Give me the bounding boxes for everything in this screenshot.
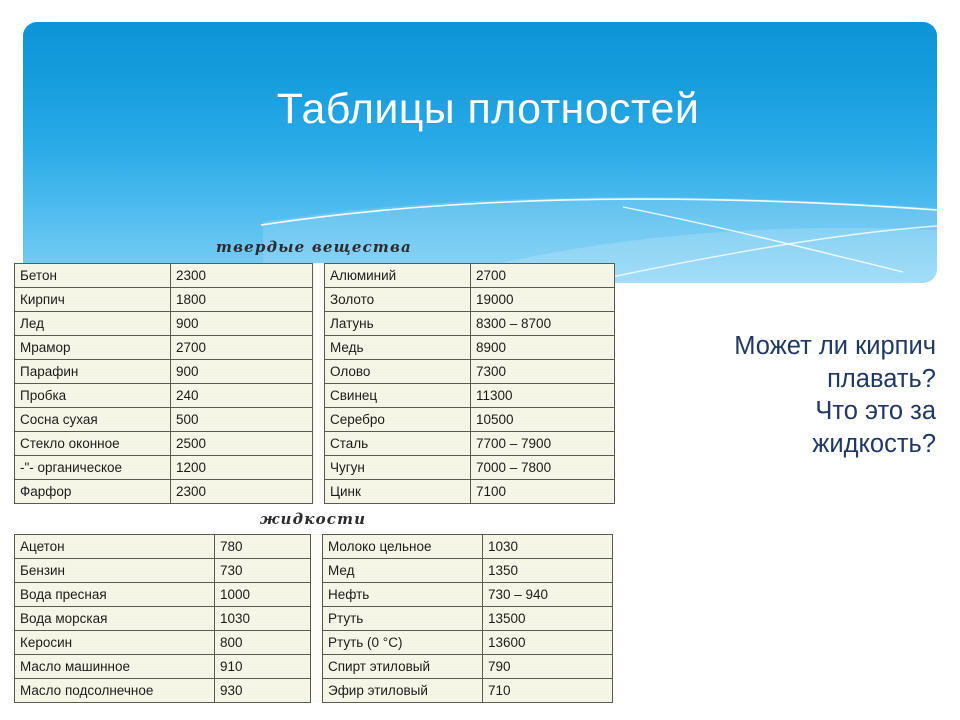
- substance-name-cell: Кирпич: [15, 288, 171, 312]
- substance-name-cell: Спирт этиловый: [323, 655, 483, 679]
- substance-name-cell: Вода морская: [15, 607, 215, 631]
- table-row: Масло подсолнечное930Эфир этиловый710: [15, 679, 613, 703]
- substance-name-cell: Молоко цельное: [323, 535, 483, 559]
- substance-name-cell: Свинец: [325, 384, 471, 408]
- substance-name-cell: Мед: [323, 559, 483, 583]
- substance-name-cell: Керосин: [15, 631, 215, 655]
- density-value-cell: 730 – 940: [483, 583, 613, 607]
- table-row: Мрамор2700Медь8900: [15, 336, 615, 360]
- substance-name-cell: Золото: [325, 288, 471, 312]
- density-value-cell: 2300: [171, 264, 313, 288]
- question-line: жидкость?: [626, 428, 936, 461]
- column-gap-cell: [311, 631, 323, 655]
- substance-name-cell: Пробка: [15, 384, 171, 408]
- density-value-cell: 13600: [483, 631, 613, 655]
- density-value-cell: 7700 – 7900: [471, 432, 615, 456]
- substance-name-cell: Бензин: [15, 559, 215, 583]
- density-value-cell: 11300: [471, 384, 615, 408]
- density-value-cell: 710: [483, 679, 613, 703]
- density-value-cell: 7300: [471, 360, 615, 384]
- density-value-cell: 7100: [471, 480, 615, 504]
- column-gap-cell: [311, 679, 323, 703]
- substance-name-cell: Латунь: [325, 312, 471, 336]
- density-value-cell: 19000: [471, 288, 615, 312]
- table-row: Масло машинное910Спирт этиловый790: [15, 655, 613, 679]
- table-row: Керосин800Ртуть (0 °C)13600: [15, 631, 613, 655]
- table-row: Фарфор2300Цинк7100: [15, 480, 615, 504]
- density-value-cell: 8300 – 8700: [471, 312, 615, 336]
- density-value-cell: 1200: [171, 456, 313, 480]
- density-value-cell: 10500: [471, 408, 615, 432]
- table-row: Пробка240Свинец11300: [15, 384, 615, 408]
- question-line: плавать?: [626, 363, 936, 396]
- substance-name-cell: Фарфор: [15, 480, 171, 504]
- density-value-cell: 930: [215, 679, 311, 703]
- substance-name-cell: Лед: [15, 312, 171, 336]
- density-value-cell: 13500: [483, 607, 613, 631]
- substance-name-cell: Алюминий: [325, 264, 471, 288]
- density-value-cell: 1800: [171, 288, 313, 312]
- density-value-cell: 240: [171, 384, 313, 408]
- substance-name-cell: Сосна сухая: [15, 408, 171, 432]
- column-gap-cell: [313, 456, 325, 480]
- question-text-block: Может ли кирпич плавать? Что это за жидк…: [626, 330, 936, 461]
- density-value-cell: 1000: [215, 583, 311, 607]
- density-value-cell: 1030: [483, 535, 613, 559]
- column-gap-cell: [311, 535, 323, 559]
- density-value-cell: 8900: [471, 336, 615, 360]
- table-row: Вода морская1030Ртуть13500: [15, 607, 613, 631]
- substance-name-cell: Чугун: [325, 456, 471, 480]
- table-row: Лед900Латунь8300 – 8700: [15, 312, 615, 336]
- column-gap-cell: [311, 559, 323, 583]
- density-value-cell: 800: [215, 631, 311, 655]
- substance-name-cell: Ртуть (0 °C): [323, 631, 483, 655]
- density-value-cell: 900: [171, 312, 313, 336]
- substance-name-cell: Серебро: [325, 408, 471, 432]
- substance-name-cell: Мрамор: [15, 336, 171, 360]
- density-value-cell: 500: [171, 408, 313, 432]
- substance-name-cell: Ртуть: [323, 607, 483, 631]
- substance-name-cell: Парафин: [15, 360, 171, 384]
- question-line: Что это за: [626, 395, 936, 428]
- solids-caption: твердые вещества: [14, 238, 614, 256]
- substance-name-cell: Нефть: [323, 583, 483, 607]
- density-value-cell: 790: [483, 655, 613, 679]
- substance-name-cell: Эфир этиловый: [323, 679, 483, 703]
- density-value-cell: 2700: [171, 336, 313, 360]
- column-gap-cell: [313, 384, 325, 408]
- substance-name-cell: Цинк: [325, 480, 471, 504]
- liquids-caption: жидкости: [14, 510, 612, 528]
- density-value-cell: 780: [215, 535, 311, 559]
- liquids-density-table: Ацетон780Молоко цельное1030Бензин730Мед1…: [14, 534, 613, 703]
- density-value-cell: 1350: [483, 559, 613, 583]
- table-row: Стекло оконное2500Сталь7700 – 7900: [15, 432, 615, 456]
- column-gap-cell: [311, 583, 323, 607]
- column-gap-cell: [313, 264, 325, 288]
- substance-name-cell: Сталь: [325, 432, 471, 456]
- table-row: Вода пресная1000Нефть730 – 940: [15, 583, 613, 607]
- column-gap-cell: [313, 336, 325, 360]
- table-row: Парафин900Олово7300: [15, 360, 615, 384]
- density-value-cell: 1030: [215, 607, 311, 631]
- column-gap-cell: [313, 288, 325, 312]
- question-line: Может ли кирпич: [626, 330, 936, 363]
- substance-name-cell: Вода пресная: [15, 583, 215, 607]
- column-gap-cell: [313, 408, 325, 432]
- column-gap-cell: [313, 480, 325, 504]
- substance-name-cell: Стекло оконное: [15, 432, 171, 456]
- table-row: Ацетон780Молоко цельное1030: [15, 535, 613, 559]
- density-value-cell: 2700: [471, 264, 615, 288]
- density-value-cell: 7000 – 7800: [471, 456, 615, 480]
- column-gap-cell: [313, 432, 325, 456]
- table-row: Бензин730Мед1350: [15, 559, 613, 583]
- density-value-cell: 2300: [171, 480, 313, 504]
- substance-name-cell: Масло машинное: [15, 655, 215, 679]
- solids-density-table: Бетон2300Алюминий2700Кирпич1800Золото190…: [14, 263, 615, 504]
- table-row: Сосна сухая500Серебро10500: [15, 408, 615, 432]
- density-value-cell: 730: [215, 559, 311, 583]
- page-title: Таблицы плотностей: [23, 85, 937, 134]
- table-row: Бетон2300Алюминий2700: [15, 264, 615, 288]
- substance-name-cell: Бетон: [15, 264, 171, 288]
- column-gap-cell: [313, 312, 325, 336]
- density-value-cell: 2500: [171, 432, 313, 456]
- density-value-cell: 910: [215, 655, 311, 679]
- substance-name-cell: Масло подсолнечное: [15, 679, 215, 703]
- density-value-cell: 900: [171, 360, 313, 384]
- substance-name-cell: Олово: [325, 360, 471, 384]
- substance-name-cell: Медь: [325, 336, 471, 360]
- column-gap-cell: [311, 655, 323, 679]
- table-row: Кирпич1800Золото19000: [15, 288, 615, 312]
- substance-name-cell: -"- органическое: [15, 456, 171, 480]
- substance-name-cell: Ацетон: [15, 535, 215, 559]
- column-gap-cell: [313, 360, 325, 384]
- column-gap-cell: [311, 607, 323, 631]
- table-row: -"- органическое1200Чугун7000 – 7800: [15, 456, 615, 480]
